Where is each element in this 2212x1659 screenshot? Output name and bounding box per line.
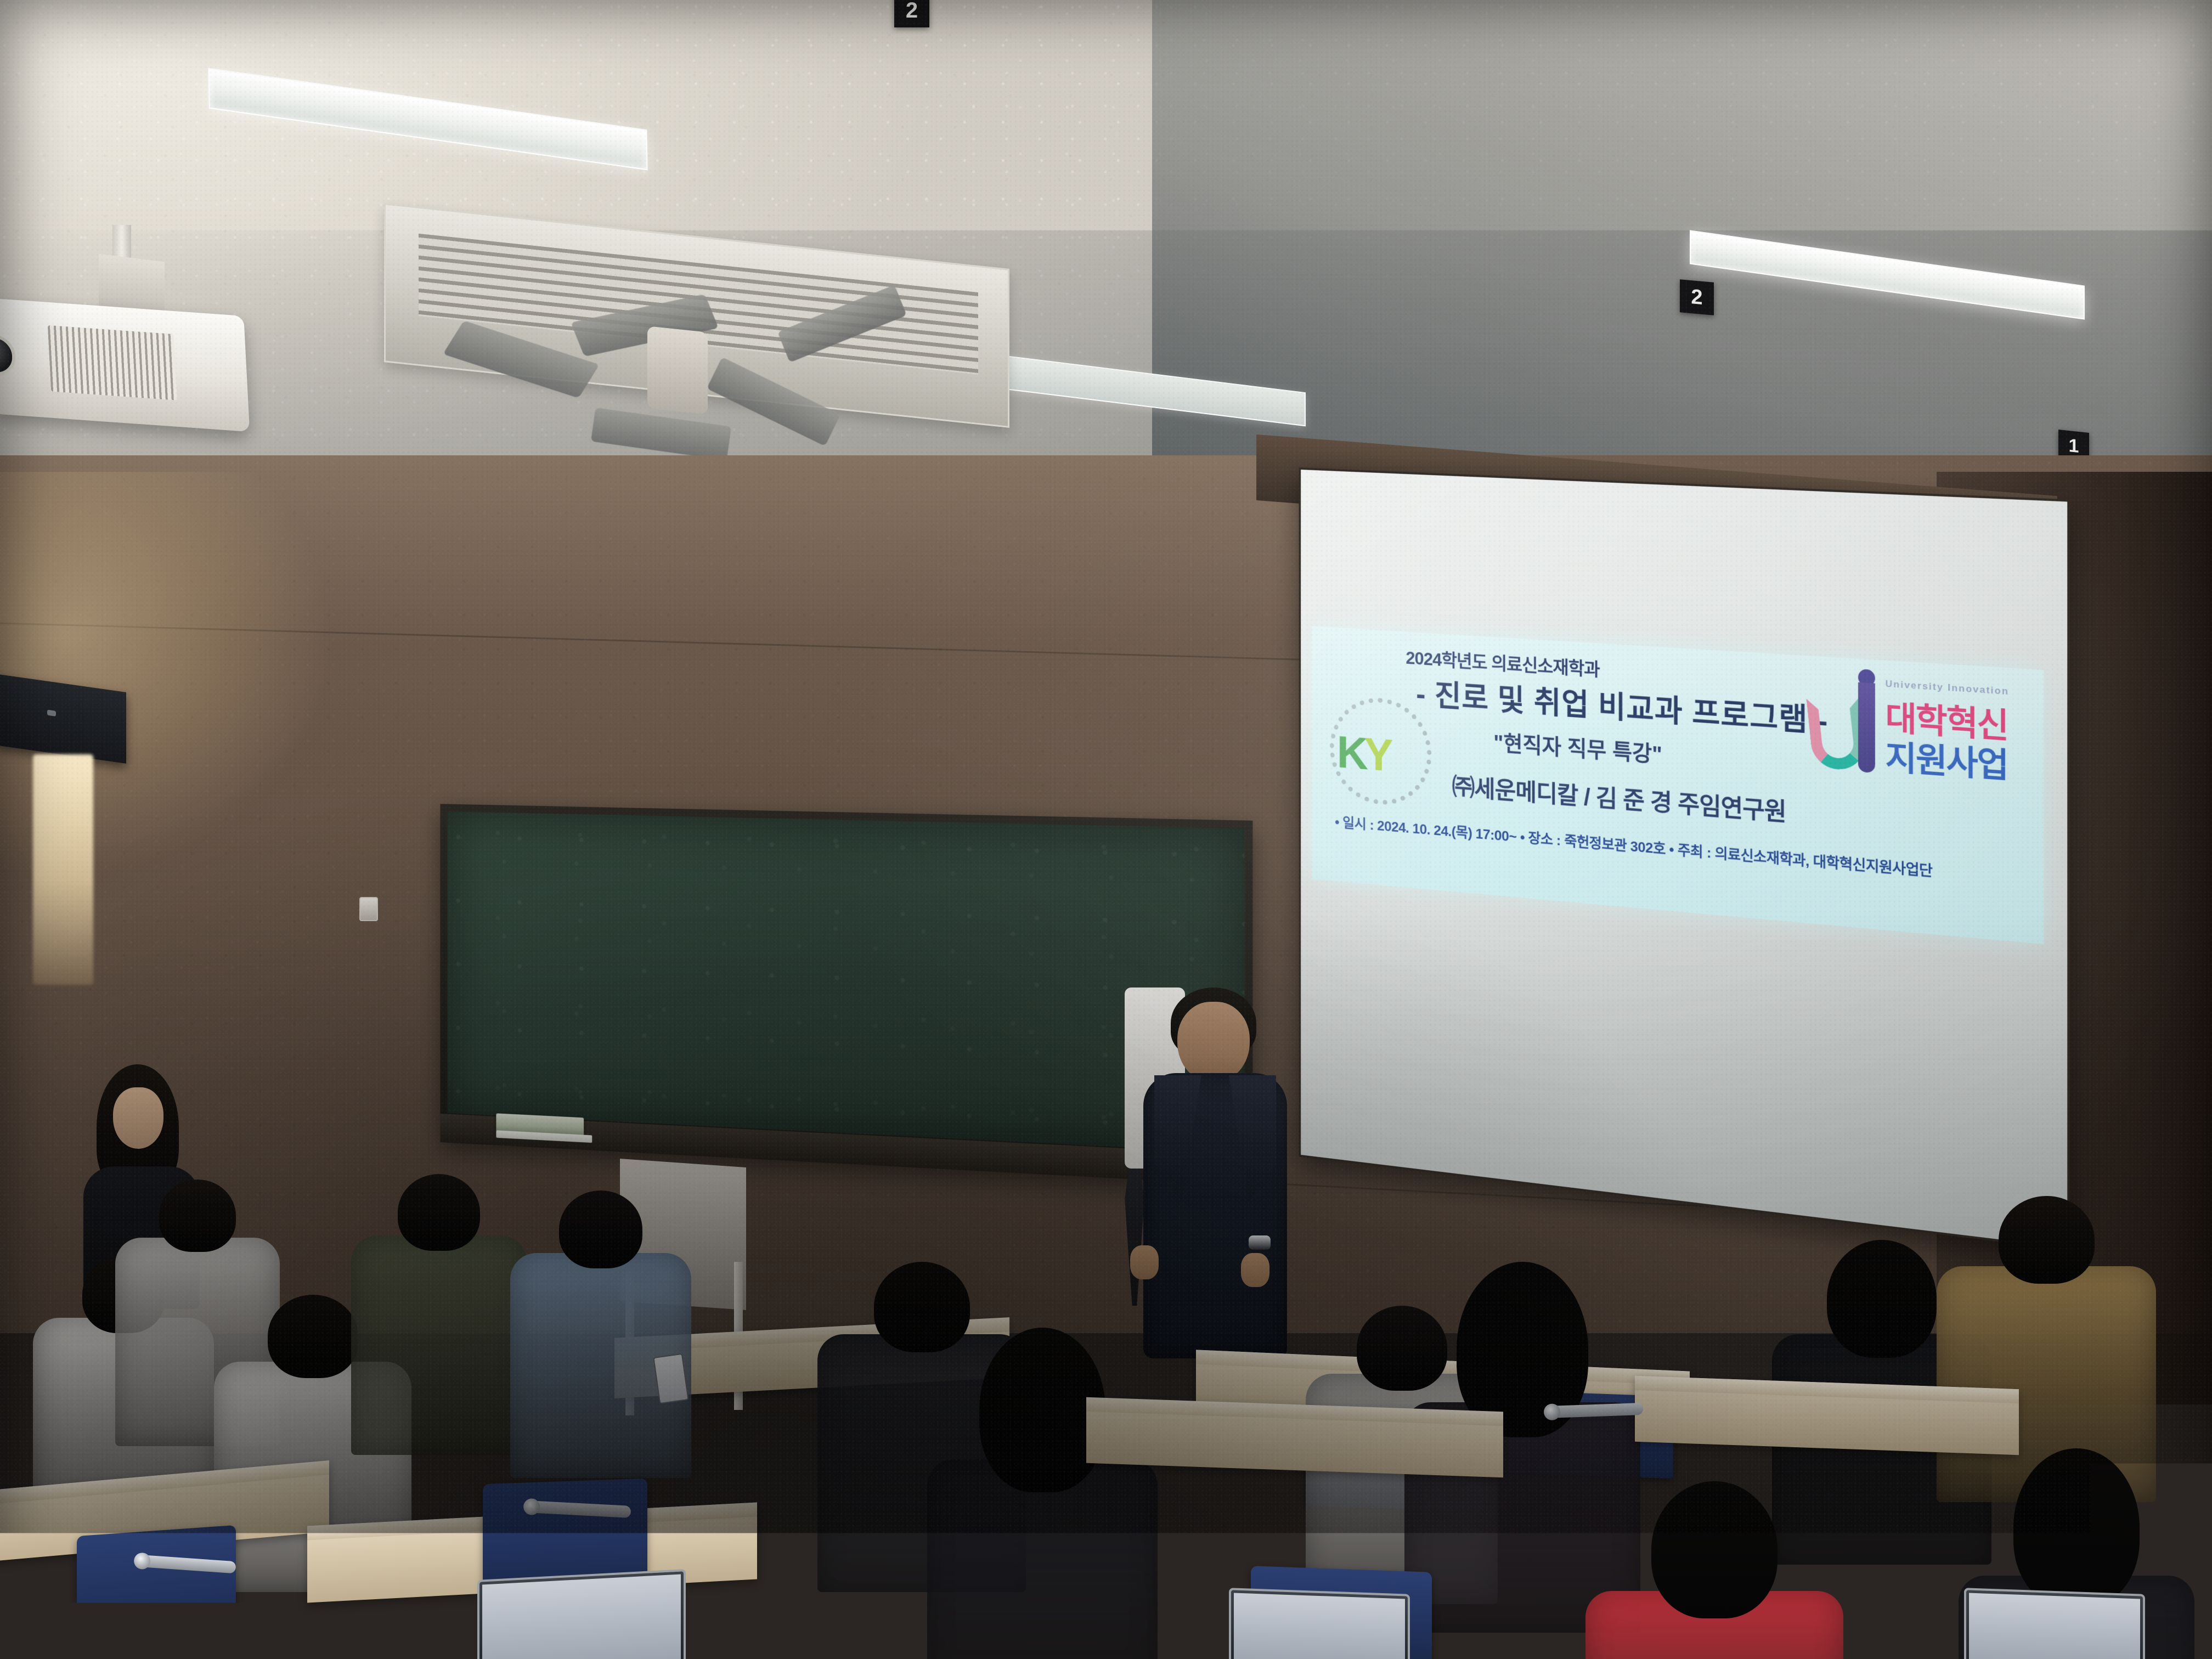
projected-slide: KY 2024학년도 의료신소재학과 - 진로 및 취업 비교과 프로그램 - … bbox=[1312, 626, 2044, 944]
student-red-top bbox=[1585, 1481, 1843, 1659]
audience-head bbox=[1999, 1196, 2095, 1284]
bag bbox=[132, 1602, 313, 1659]
student-long-hair-1 bbox=[927, 1328, 1158, 1659]
slide-title: - 진로 및 취업 비교과 프로그램 - bbox=[1416, 670, 1828, 742]
audience-torso bbox=[351, 1235, 527, 1455]
presenter-necktie bbox=[1125, 1169, 1144, 1306]
ky-letter-k: K bbox=[1337, 726, 1364, 779]
presenter-wristwatch bbox=[1249, 1235, 1271, 1250]
presenter bbox=[1125, 988, 1306, 1372]
ceiling-sign-2a: 2 bbox=[894, 0, 929, 27]
lecture-hall-photo: 2 2 1 bbox=[0, 0, 2212, 1659]
laptop[interactable] bbox=[1229, 1588, 1410, 1659]
audience-head bbox=[1651, 1481, 1778, 1618]
projection-screen: KY 2024학년도 의료신소재학과 - 진로 및 취업 비교과 프로그램 - … bbox=[1299, 467, 2069, 1250]
laptop[interactable] bbox=[1964, 1588, 2145, 1659]
wall-upper-band bbox=[0, 455, 1328, 642]
ceiling-sign-2b: 2 bbox=[1680, 279, 1714, 315]
audience-head bbox=[398, 1174, 480, 1251]
slide-subtitle: "현직자 직무 특강" bbox=[1493, 725, 1662, 769]
student-denim-jacket bbox=[510, 1190, 691, 1493]
presenter-face bbox=[1177, 1002, 1250, 1083]
chalkboard-eraser bbox=[496, 1113, 584, 1136]
laptop[interactable] bbox=[477, 1569, 686, 1659]
staff-face bbox=[113, 1087, 163, 1149]
audience-head bbox=[559, 1190, 642, 1268]
audience-head bbox=[159, 1180, 236, 1252]
audience-head bbox=[1827, 1240, 1937, 1358]
ui-logo-j-mark bbox=[1858, 682, 1875, 774]
slide-footer-details: • 일시 : 2024. 10. 24.(목) 17:00~ • 장소 : 죽헌… bbox=[1335, 811, 1932, 881]
audience-head bbox=[268, 1295, 358, 1378]
student-olive-jacket bbox=[351, 1174, 527, 1470]
slide-presenter: ㈜세운메디칼 / 김 준 경 주임연구원 bbox=[1452, 768, 1786, 828]
ceiling-fan-hub bbox=[647, 326, 708, 415]
ky-logo-letters: KY bbox=[1337, 726, 1389, 782]
presenter-hand-left bbox=[1130, 1245, 1159, 1279]
wall-switch-plate[interactable] bbox=[359, 897, 378, 921]
university-innovation-logo: University Innovation 대학혁신 지원사업 bbox=[1807, 670, 2018, 803]
wall-light-strip bbox=[33, 754, 93, 985]
projector-lens bbox=[0, 333, 16, 377]
lecture-desk bbox=[1635, 1376, 2019, 1455]
audience-head bbox=[2013, 1448, 2140, 1607]
speaker-led bbox=[47, 710, 56, 716]
ceiling-projector bbox=[0, 298, 250, 432]
presenter-hand-right bbox=[1241, 1253, 1269, 1287]
projector-vent bbox=[48, 325, 177, 400]
ky-letter-y: Y bbox=[1364, 729, 1390, 781]
ceiling-right-shadow bbox=[1152, 0, 2212, 494]
ui-logo-line2: 지원사업 bbox=[1886, 730, 2008, 788]
